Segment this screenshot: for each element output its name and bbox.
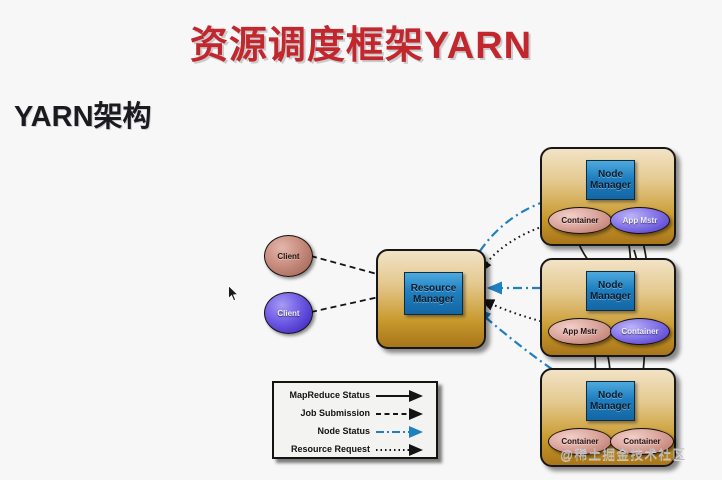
node-2-app-master-label: App Mstr: [563, 327, 598, 336]
client-node-1[interactable]: Client: [264, 235, 313, 277]
nm2-line-2: Manager: [590, 291, 631, 302]
node-manager-box-2[interactable]: Node Manager App Mstr Container: [540, 258, 676, 357]
section-subtitle: YARN架构: [14, 93, 152, 135]
nm2-line-1: Node: [598, 280, 623, 291]
legend-label: Resource Request: [274, 444, 375, 454]
legend: MapReduce Status Job Submission No: [272, 381, 438, 459]
resource-manager-box[interactable]: Resource Manager: [376, 249, 486, 349]
legend-swatch-dotted: [375, 443, 431, 455]
nm3-line-1: Node: [598, 390, 623, 401]
node-2-app-master[interactable]: App Mstr: [548, 318, 612, 345]
legend-row-mapreduce-status: MapReduce Status: [274, 386, 436, 403]
client-label: Client: [277, 252, 299, 261]
resource-manager-label: Resource Manager: [404, 272, 463, 315]
client-label: Client: [277, 309, 299, 318]
node-manager-box-1[interactable]: Node Manager Container App Mstr: [540, 147, 676, 246]
node-1-container[interactable]: Container: [548, 207, 612, 234]
slide-canvas: 资源调度框架YARN YARN架构: [0, 0, 722, 480]
node-manager-label-3: Node Manager: [586, 381, 635, 421]
legend-row-resource-request: Resource Request: [274, 440, 436, 457]
mouse-cursor-icon: [228, 285, 240, 303]
client-node-2[interactable]: Client: [264, 292, 313, 334]
rm-line-2: Manager: [413, 294, 454, 305]
legend-label: MapReduce Status: [274, 390, 375, 400]
nm3-line-2: Manager: [590, 401, 631, 412]
legend-row-job-submission: Job Submission: [274, 404, 436, 421]
nm1-line-1: Node: [598, 169, 623, 180]
legend-swatch-dashdot: [375, 425, 431, 437]
rm-line-1: Resource: [411, 283, 457, 294]
node-manager-label-1: Node Manager: [586, 160, 635, 200]
node-2-container-label: Container: [621, 327, 658, 336]
node-1-app-master-label: App Mstr: [623, 216, 658, 225]
nm1-line-2: Manager: [590, 180, 631, 191]
node-2-container[interactable]: Container: [610, 318, 670, 345]
page-title: 资源调度框架YARN: [0, 14, 722, 69]
node-1-app-master[interactable]: App Mstr: [610, 207, 670, 234]
node-1-container-label: Container: [561, 216, 598, 225]
legend-swatch-solid: [375, 389, 431, 401]
watermark: @稀土掘金技术社区: [560, 444, 686, 463]
legend-swatch-dashed: [375, 407, 431, 419]
node-manager-label-2: Node Manager: [586, 271, 635, 311]
legend-row-node-status: Node Status: [274, 422, 436, 439]
legend-label: Job Submission: [274, 408, 375, 418]
legend-label: Node Status: [274, 426, 375, 436]
